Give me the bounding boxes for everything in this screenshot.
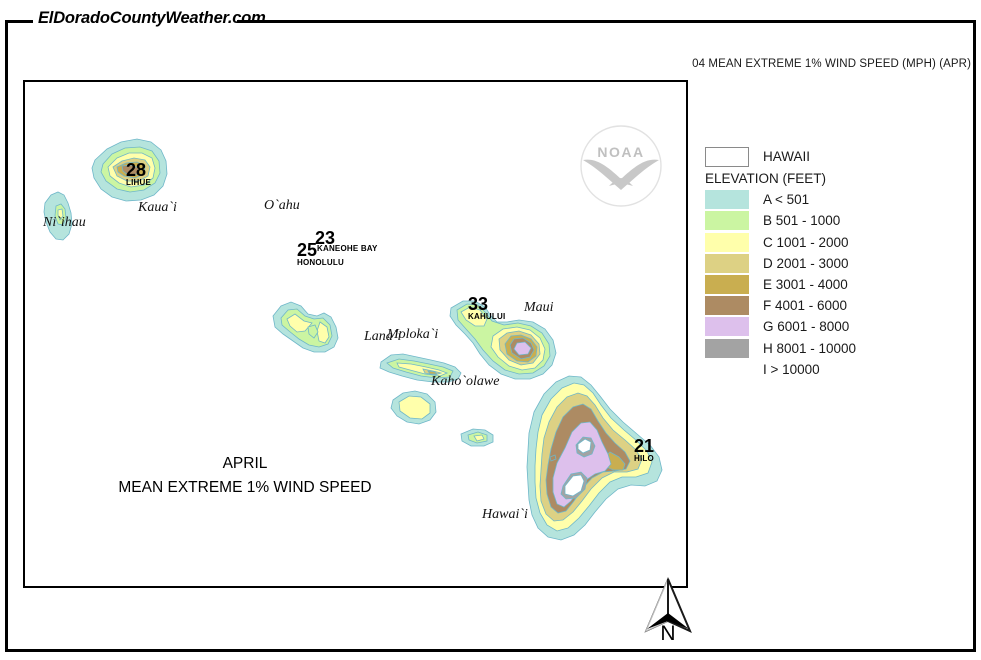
legend-swatch-f [705, 296, 749, 315]
station-name: HONOLULU [297, 258, 344, 267]
north-arrow-label: N [650, 622, 686, 646]
legend-label-h: H 8001 - 10000 [763, 341, 856, 356]
legend-row-i: I > 10000 [705, 359, 955, 380]
map-caption: APRIL MEAN EXTREME 1% WIND SPEED [55, 452, 435, 500]
legend-row-hawaii: HAWAII [705, 146, 955, 167]
frame-border-left [5, 20, 8, 652]
station-name: HILO [634, 454, 654, 463]
island-label-oahu: O`ahu [264, 198, 300, 214]
legend-heading-elevation: ELEVATION (FEET) [705, 171, 955, 186]
station-value: 21 [634, 438, 654, 454]
station-honolulu: 25 HONOLULU [297, 242, 344, 267]
legend-label-e: E 3001 - 4000 [763, 277, 848, 292]
legend-swatch-a [705, 190, 749, 209]
station-kahului: 33 KAHULUI [468, 296, 505, 321]
island-label-maui: Maui [524, 300, 554, 316]
island-label-niihau: Ni`ihau [43, 215, 86, 231]
island-label-hawaii: Hawai`i [482, 507, 528, 523]
noaa-logo-text: NOAA [597, 144, 644, 160]
island-label-kauai: Kaua`i [138, 200, 177, 216]
legend-label-f: F 4001 - 6000 [763, 298, 847, 313]
legend-swatch-i [705, 360, 749, 379]
station-value: 25 [297, 242, 344, 258]
legend-swatch-h [705, 339, 749, 358]
legend-label-i: I > 10000 [763, 362, 820, 377]
island-shape-oahu [273, 302, 338, 352]
page-frame: ElDoradoCountyWeather.com 04 MEAN EXTREM… [0, 0, 981, 660]
legend-label-a: A < 501 [763, 192, 809, 207]
legend-label-g: G 6001 - 8000 [763, 319, 849, 334]
station-name: KAHULUI [468, 312, 505, 321]
island-shape-kahoolawe [461, 429, 493, 446]
frame-border-top-left [5, 20, 33, 23]
legend-row-h: H 8001 - 10000 [705, 338, 955, 359]
station-value: 33 [468, 296, 505, 312]
legend-swatch-e [705, 275, 749, 294]
caption-line-1: APRIL [55, 452, 435, 476]
legend-swatch-hawaii [705, 147, 749, 167]
island-label-lanai: Lana`i [364, 329, 401, 345]
legend-label-d: D 2001 - 3000 [763, 256, 849, 271]
legend-row-e: E 3001 - 4000 [705, 274, 955, 295]
legend-label-c: C 1001 - 2000 [763, 235, 849, 250]
legend-swatch-c [705, 233, 749, 252]
legend-row-c: C 1001 - 2000 [705, 232, 955, 253]
map-canvas: Ni`ihau Kaua`i O`ahu Moloka`i Lana`i Mau… [23, 80, 688, 588]
legend-row-f: F 4001 - 6000 [705, 295, 955, 316]
station-name: LIHUE [126, 178, 151, 187]
station-value: 28 [126, 162, 151, 178]
island-label-kahoolawe: Kaho`olawe [431, 374, 499, 390]
legend-row-d: D 2001 - 3000 [705, 253, 955, 274]
station-lihue: 28 LIHUE [126, 162, 151, 187]
site-title: ElDoradoCountyWeather.com [38, 9, 266, 28]
map-legend: HAWAII ELEVATION (FEET) A < 501 B 501 - … [705, 146, 955, 380]
legend-swatch-d [705, 254, 749, 273]
legend-swatch-g [705, 317, 749, 336]
legend-row-b: B 501 - 1000 [705, 210, 955, 231]
station-hilo: 21 HILO [634, 438, 654, 463]
legend-swatch-b [705, 211, 749, 230]
frame-border-right [973, 20, 976, 652]
frame-border-top-right [237, 20, 976, 23]
caption-line-2: MEAN EXTREME 1% WIND SPEED [55, 476, 435, 500]
legend-row-g: G 6001 - 8000 [705, 316, 955, 337]
legend-row-a: A < 501 [705, 189, 955, 210]
map-header-title: 04 MEAN EXTREME 1% WIND SPEED (MPH) (APR… [692, 58, 971, 70]
frame-border-bottom [5, 649, 976, 652]
noaa-logo-icon: NOAA [579, 124, 663, 208]
legend-label-hawaii: HAWAII [763, 149, 810, 164]
legend-label-b: B 501 - 1000 [763, 213, 840, 228]
island-shape-lanai [391, 391, 436, 424]
